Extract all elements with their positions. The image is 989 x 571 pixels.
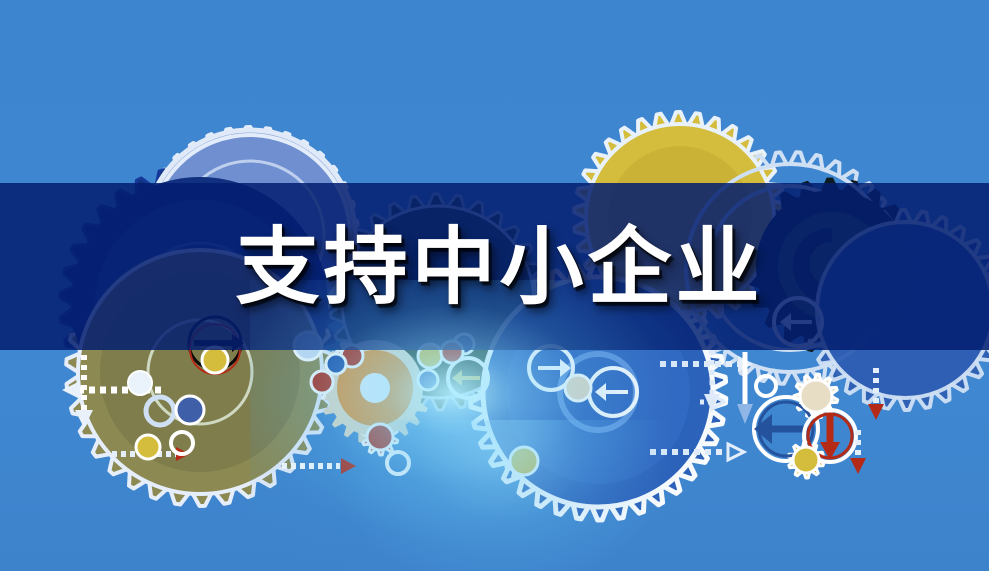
banner-image: 支持中小企业 [0, 0, 989, 571]
headline-container: 支持中小企业 [0, 183, 989, 350]
page-title: 支持中小企业 [225, 225, 763, 309]
